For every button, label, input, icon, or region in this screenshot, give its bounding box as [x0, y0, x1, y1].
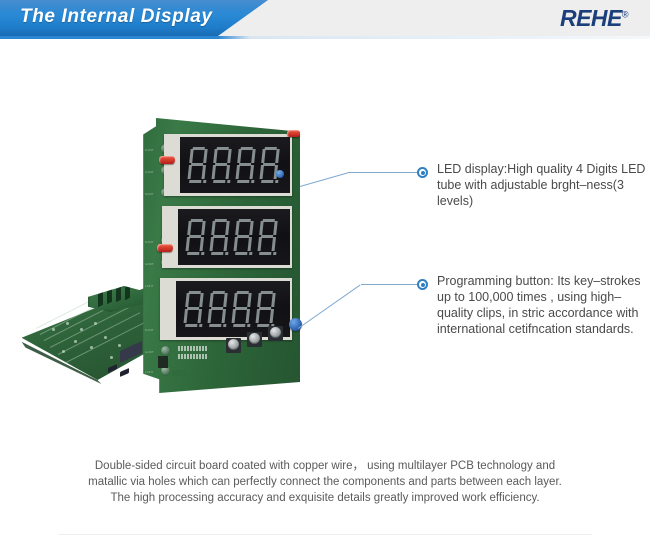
pin — [196, 346, 198, 351]
pcb-pad — [94, 322, 97, 325]
segment — [193, 147, 205, 150]
pcb-pad — [80, 328, 83, 331]
segment — [185, 293, 189, 307]
page-title: The Internal Display — [20, 6, 213, 28]
segment — [235, 221, 239, 235]
silkscreen-label: A-OUT — [145, 262, 153, 266]
pcb-pad — [66, 322, 69, 325]
segment — [271, 293, 275, 307]
segment — [239, 219, 251, 222]
segment — [272, 237, 276, 251]
seven-segment-digit — [210, 147, 233, 183]
pcb-pad — [104, 336, 107, 339]
segment — [247, 293, 251, 307]
segment — [273, 221, 277, 235]
segment — [189, 235, 201, 238]
silkscreen-label: S-OUT — [145, 192, 153, 196]
pin — [187, 346, 189, 351]
segment — [213, 180, 225, 183]
led-display-module — [162, 206, 292, 268]
pin — [202, 346, 204, 351]
segment — [222, 309, 226, 323]
segment — [210, 237, 214, 251]
decimal-point — [225, 252, 228, 255]
segment — [201, 221, 205, 235]
pcb-pad — [118, 344, 121, 347]
segment — [200, 237, 204, 251]
product-photo: K-OUT A-OUT S-OUT K-OUT A-OUT L-OUT K-OU… — [0, 88, 340, 428]
silkscreen-label: L-OUT — [145, 284, 153, 288]
segment — [203, 149, 207, 163]
decimal-point — [273, 252, 276, 255]
segment — [259, 221, 263, 235]
segment — [237, 291, 249, 294]
segment — [234, 237, 238, 251]
silkscreen-label: A-OUT — [145, 350, 153, 354]
pin — [190, 354, 192, 359]
seven-segment-digit — [256, 219, 279, 255]
pin — [193, 354, 195, 359]
pin — [190, 346, 192, 351]
seven-segment-digit — [186, 147, 209, 183]
segment — [191, 163, 203, 166]
segment — [246, 309, 250, 323]
decimal-point — [275, 180, 278, 183]
blue-component — [276, 170, 284, 178]
red-indicator-led — [159, 156, 175, 164]
registered-trademark-icon: ® — [622, 9, 628, 19]
segment — [213, 291, 225, 294]
led-glass — [178, 209, 290, 265]
segment — [208, 309, 212, 323]
segment — [189, 291, 201, 294]
segment — [213, 149, 217, 163]
segment — [249, 221, 253, 235]
programming-button[interactable] — [226, 338, 241, 353]
segment — [215, 219, 227, 222]
segment — [265, 147, 277, 150]
segment — [225, 221, 229, 235]
terminal-slot — [98, 292, 103, 307]
segment — [248, 237, 252, 251]
terminal-slot — [116, 287, 121, 302]
pcb-pad — [110, 356, 113, 359]
decimal-point — [247, 324, 250, 327]
pcb-pad — [52, 328, 55, 331]
segment — [198, 309, 202, 323]
decimal-point — [249, 252, 252, 255]
segment — [209, 324, 221, 327]
segment — [258, 237, 262, 251]
segment — [263, 163, 275, 166]
pin — [184, 346, 186, 351]
pcb-pad — [90, 346, 93, 349]
segment — [237, 149, 241, 163]
pin — [199, 354, 201, 359]
pin — [199, 346, 201, 351]
segment — [184, 309, 188, 323]
segment — [250, 165, 254, 179]
segment — [187, 252, 199, 255]
segment — [260, 165, 264, 179]
segment — [239, 163, 251, 166]
pin — [181, 346, 183, 351]
silkscreen-label: A-OUT — [145, 170, 153, 174]
decimal-point — [251, 180, 254, 183]
leader-line — [361, 284, 419, 285]
callout-text: Programming button: Its key–strokes up t… — [437, 273, 650, 337]
segment — [259, 252, 271, 255]
led-glass — [180, 137, 290, 193]
segment — [187, 307, 199, 310]
silkscreen-label: K-OUT — [145, 328, 153, 332]
pin — [196, 354, 198, 359]
led-display-module — [164, 134, 292, 196]
segment — [217, 147, 229, 150]
segment — [261, 149, 265, 163]
pin — [184, 354, 186, 359]
segment — [227, 149, 231, 163]
segment — [226, 165, 230, 179]
terminal-slot — [107, 289, 112, 304]
seven-segment-digit — [206, 291, 229, 327]
segment — [224, 237, 228, 251]
brand-logo-text: REHE — [560, 5, 622, 31]
segment — [191, 219, 203, 222]
leader-line — [348, 172, 420, 173]
red-indicator-led — [157, 244, 173, 252]
callout-marker-dot — [417, 167, 428, 178]
segment — [211, 221, 215, 235]
segment — [256, 309, 260, 323]
segment — [186, 237, 190, 251]
segment — [185, 324, 197, 327]
footer-divider — [58, 534, 592, 535]
segment — [257, 293, 261, 307]
segment — [263, 219, 275, 222]
decimal-point — [223, 324, 226, 327]
decimal-point — [201, 252, 204, 255]
board-component — [161, 346, 170, 355]
pin — [205, 346, 207, 351]
page-header: The Internal Display REHE® — [0, 0, 650, 44]
segment — [233, 324, 245, 327]
callout-marker-dot — [417, 279, 428, 290]
segment — [235, 307, 247, 310]
segment — [215, 163, 227, 166]
caption-line-2: matallic via holes which can perfectly c… — [60, 474, 590, 490]
figure-caption: Double-sided circuit board coated with c… — [60, 458, 590, 506]
segment — [241, 147, 253, 150]
pin — [187, 354, 189, 359]
segment — [261, 291, 273, 294]
segment — [213, 235, 225, 238]
seven-segment-digit — [208, 219, 231, 255]
seven-segment-digit — [254, 291, 277, 327]
silkscreen-label: K-OUT — [145, 148, 153, 152]
pin-header — [178, 346, 207, 351]
segment — [188, 165, 192, 179]
segment — [233, 293, 237, 307]
programming-button[interactable] — [247, 332, 262, 347]
seven-segment-digit — [232, 219, 255, 255]
seven-segment-digit — [184, 219, 207, 255]
segment — [199, 293, 203, 307]
segment — [261, 180, 273, 183]
segment — [223, 293, 227, 307]
seven-segment-digit — [230, 291, 253, 327]
caption-line-1: Double-sided circuit board coated with c… — [60, 458, 590, 474]
pin-header — [178, 354, 207, 359]
caption-line-3: The high processing accuracy and exquisi… — [60, 490, 590, 506]
callout-text: LED display:High quality 4 Digits LED tu… — [437, 161, 650, 209]
red-indicator-led — [287, 130, 300, 137]
seven-segment-digit — [182, 291, 205, 327]
segment — [236, 165, 240, 179]
decimal-point — [227, 180, 230, 183]
pin — [205, 354, 207, 359]
connector-block — [158, 356, 168, 368]
seven-segment-digit — [234, 147, 257, 183]
segment — [187, 221, 191, 235]
terminal-slot — [125, 285, 130, 300]
segment — [232, 309, 236, 323]
segment — [211, 307, 223, 310]
segment — [261, 235, 273, 238]
segment — [237, 180, 249, 183]
segment — [270, 309, 274, 323]
pin — [193, 346, 195, 351]
silkscreen-label: K-OUT — [145, 240, 153, 244]
segment — [275, 149, 279, 163]
header-underline — [0, 36, 650, 39]
base-board-component — [120, 368, 129, 377]
segment — [237, 235, 249, 238]
pcb-pad — [62, 350, 65, 353]
segment — [251, 149, 255, 163]
segment — [212, 165, 216, 179]
pcb-pad — [74, 340, 77, 343]
board-tab — [172, 370, 188, 376]
segment — [211, 252, 223, 255]
segment — [202, 165, 206, 179]
decimal-point — [199, 324, 202, 327]
segment — [259, 307, 271, 310]
pin — [181, 354, 183, 359]
programming-button[interactable] — [268, 326, 283, 341]
pin — [178, 346, 180, 351]
pin — [202, 354, 204, 359]
brand-logo: REHE® — [560, 5, 628, 32]
segment — [209, 293, 213, 307]
pin — [178, 354, 180, 359]
segment — [235, 252, 247, 255]
segment — [189, 180, 201, 183]
programming-button-blue[interactable] — [289, 318, 302, 331]
decimal-point — [203, 180, 206, 183]
segment — [189, 149, 193, 163]
silkscreen-label: L-OUT — [145, 370, 153, 374]
